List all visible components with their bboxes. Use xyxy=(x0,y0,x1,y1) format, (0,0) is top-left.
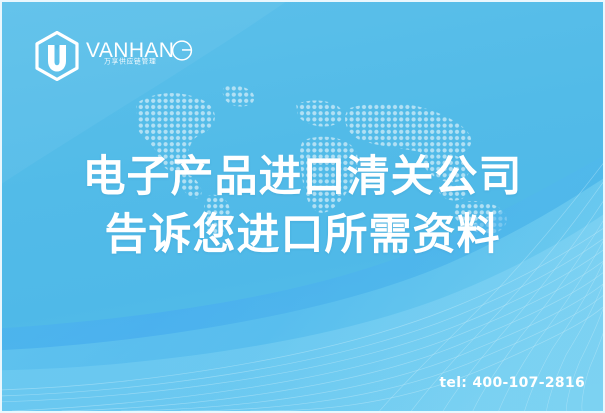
brand-logo: VANHAN 万享供应链管理 xyxy=(34,30,194,82)
brand-subtitle: 万享供应链管理 xyxy=(104,57,157,66)
brand-wordmark-block: VANHAN 万享供应链管理 xyxy=(86,34,194,78)
headline-line-1: 电子产品进口清关公司 xyxy=(2,148,603,206)
headline-line-2: 告诉您进口所需资料 xyxy=(2,206,603,264)
contact-phone: tel: 400-107-2816 xyxy=(439,375,585,391)
promo-banner: VANHAN 万享供应链管理 电子产品进口清关公司 告诉您进口所需资料 tel:… xyxy=(0,0,605,413)
hexagon-u-logo-icon xyxy=(34,31,80,81)
headline-block: 电子产品进口清关公司 告诉您进口所需资料 xyxy=(2,148,603,264)
